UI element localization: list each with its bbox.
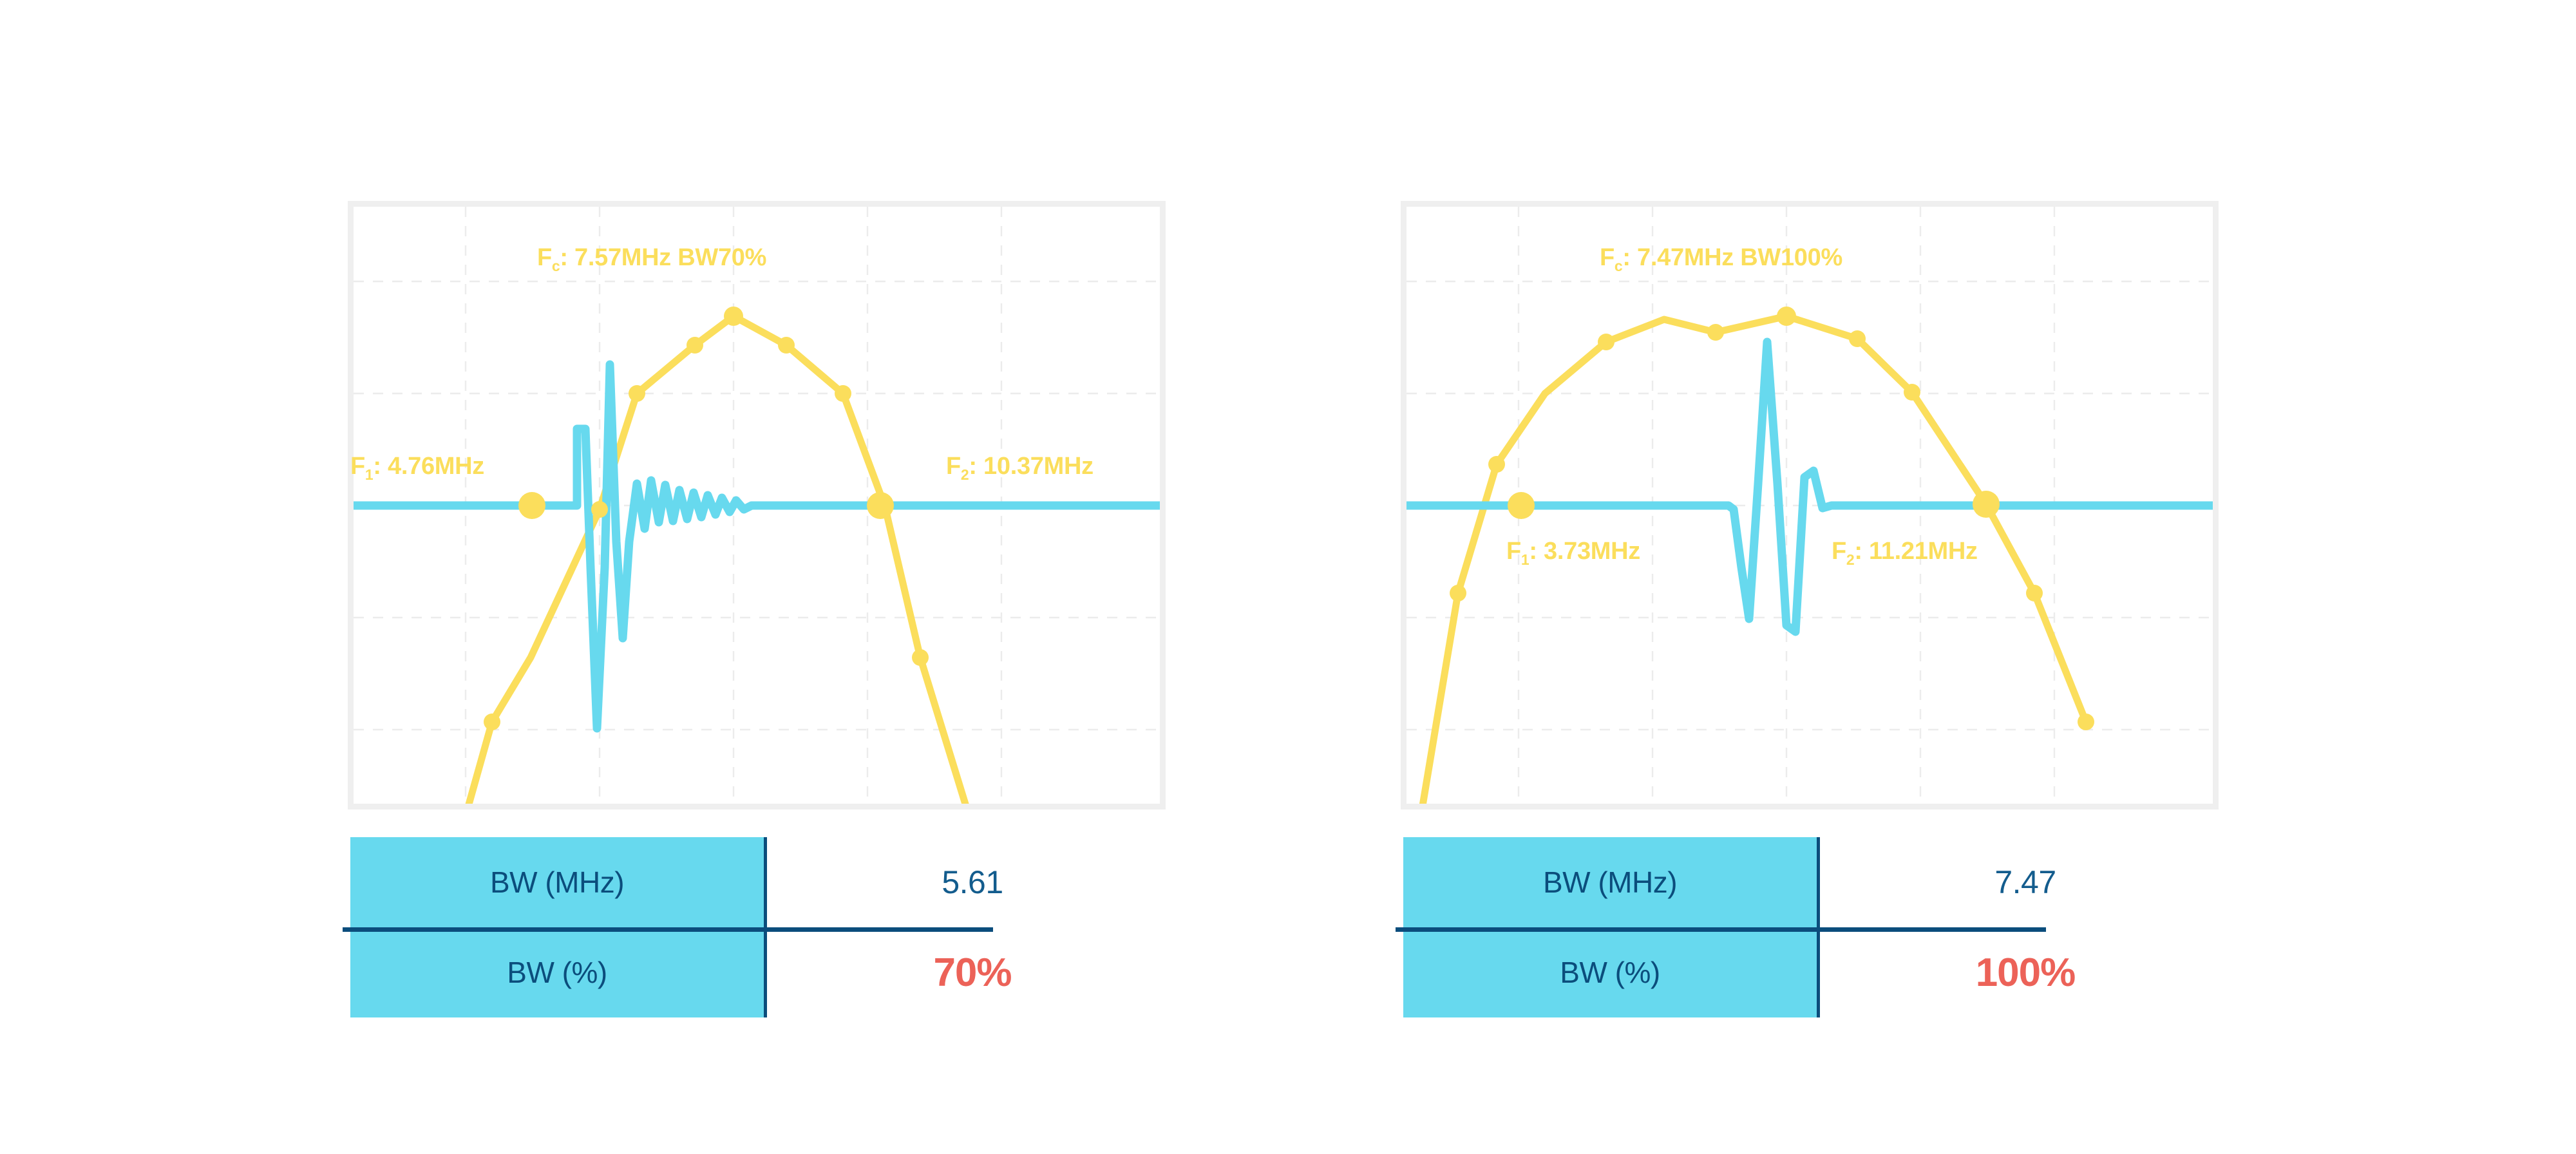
f2-marker-right (1973, 491, 2000, 518)
figure-canvas: Fc: 7.57MHz BW70% F1: 4.76MHz F2: 10.37M… (0, 0, 2576, 1154)
f1-marker-left (518, 492, 545, 519)
chart-frame-left: Fc: 7.57MHz BW70% F1: 4.76MHz F2: 10.37M… (348, 201, 1166, 809)
bw-table-right: BW (MHz) 7.47 BW (%) 100% (1403, 837, 2234, 1017)
bw-mhz-value: 7.47 (1817, 837, 2234, 927)
frequency-spectrum-line-left (463, 316, 972, 804)
f1-marker-right (1508, 492, 1535, 519)
chart-frame-right: Fc: 7.47MHz BW100% F1: 3.73MHz F2: 11.21… (1401, 201, 2219, 809)
spectrum-markers-left (484, 307, 929, 730)
bw-mhz-header: BW (MHz) (350, 837, 764, 927)
bw-percent-header: BW (%) (1403, 927, 1817, 1017)
f2-label-right: F2: 11.21MHz (1832, 539, 1978, 563)
bw-mhz-value: 5.61 (764, 837, 1181, 927)
f2-marker-left (867, 492, 894, 519)
time-domain-pulse-right (1406, 342, 2213, 632)
f2-label-left: F2: 10.37MHz (946, 454, 1094, 478)
bw-percent-value: 70% (764, 927, 1181, 1017)
table-divider-rule (343, 927, 993, 932)
bw-percent-value: 100% (1817, 927, 2234, 1017)
table-row: BW (MHz) 7.47 (1403, 837, 2234, 927)
fc-label-left: Fc: 7.57MHz BW70% (537, 245, 766, 270)
f1-label-right: F1: 3.73MHz (1506, 539, 1640, 563)
panel-bw70: Fc: 7.57MHz BW70% F1: 4.76MHz F2: 10.37M… (348, 0, 1211, 1154)
chart-plot-left (354, 207, 1160, 804)
table-row: BW (MHz) 5.61 (350, 837, 1181, 927)
table-divider-rule (1396, 927, 2046, 932)
f1-label-left: F1: 4.76MHz (350, 454, 484, 478)
bw-table-left: BW (MHz) 5.61 BW (%) 70% (350, 837, 1181, 1017)
fc-label-right: Fc: 7.47MHz BW100% (1600, 245, 1842, 270)
chart-plot-right (1406, 207, 2213, 804)
table-row: BW (%) 70% (350, 927, 1181, 1017)
time-domain-pulse-left (354, 364, 1160, 728)
table-row: BW (%) 100% (1403, 927, 2234, 1017)
bw-mhz-header: BW (MHz) (1403, 837, 1817, 927)
panel-bw100: Fc: 7.47MHz BW100% F1: 3.73MHz F2: 11.21… (1401, 0, 2264, 1154)
bw-percent-header: BW (%) (350, 927, 764, 1017)
